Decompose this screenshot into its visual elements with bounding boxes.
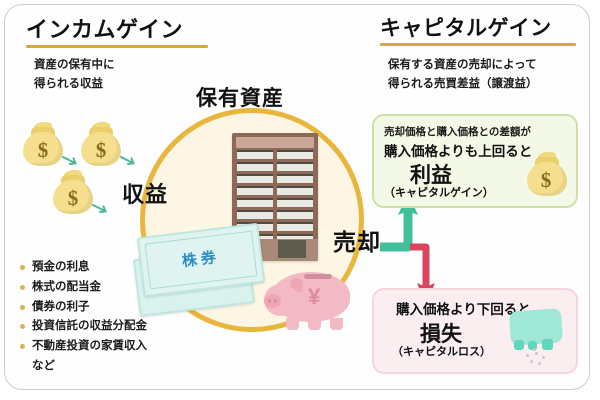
- capital-subtitle-line-1: 保有する資産の売却によって: [388, 56, 538, 75]
- building-roof: [236, 137, 314, 148]
- capital-gain-heading-text: キャピタルゲイン: [380, 12, 552, 42]
- profit-arrow-up-icon: [380, 209, 408, 247]
- flow-arrow-icon: [62, 155, 78, 167]
- piggy-bank-icon: ¥: [264, 268, 350, 326]
- money-bag-icon: $: [20, 122, 66, 168]
- building-door: [278, 240, 306, 258]
- list-item: 不動産投資の家賃収入: [18, 337, 147, 357]
- loss-arrow-down-icon: [410, 247, 426, 289]
- money-bag-symbol: $: [50, 186, 96, 211]
- flow-arrow-icon: [92, 203, 108, 215]
- income-flow-label: 収益: [122, 177, 168, 209]
- money-bag-symbol: $: [524, 168, 568, 193]
- money-bag-icon: $: [78, 122, 124, 168]
- list-item: 預金の利息: [18, 258, 147, 278]
- capital-subtitle-line-2: 得られる売買差益（譲渡益）: [388, 75, 538, 94]
- broken-piggy-bank-icon: [502, 308, 572, 366]
- gain-subtext: （キャピタルゲイン）: [384, 184, 494, 200]
- capital-loss-box: 購入価格より下回ると 損失 （キャピタルロス）: [372, 288, 578, 374]
- list-item: 株式の配当金: [18, 278, 147, 298]
- asset-label: 保有資産: [196, 82, 284, 112]
- income-gain-heading-text: インカムゲイン: [26, 12, 183, 44]
- income-source-list: 預金の利息 株式の配当金 債券の利子 投資信託の収益分配金 不動産投資の家賃収入…: [18, 258, 147, 377]
- money-bag-symbol: $: [78, 138, 124, 163]
- capital-heading-underline: [380, 43, 576, 46]
- gain-line-1: 売却価格と購入価格との差額が: [384, 124, 568, 139]
- capital-subtitle: 保有する資産の売却によって 得られる売買差益（譲渡益）: [388, 56, 538, 93]
- money-bag-icon: $: [524, 152, 568, 196]
- list-item: など: [18, 357, 147, 377]
- income-subtitle: 資産の保有中に 得られる収益: [34, 56, 115, 93]
- money-bag-icon: $: [50, 170, 96, 216]
- income-subtitle-line-1: 資産の保有中に: [34, 56, 115, 75]
- income-subtitle-line-2: 得られる収益: [34, 75, 115, 94]
- money-bag-symbol: $: [20, 138, 66, 163]
- infographic-root: インカムゲイン 資産の保有中に 得られる収益 キャピタルゲイン 保有する資産の売…: [0, 0, 600, 400]
- capital-gain-heading: キャピタルゲイン: [380, 12, 576, 46]
- income-heading-underline: [26, 45, 208, 48]
- sell-label: 売却: [333, 223, 381, 257]
- capital-gain-box: 売却価格と購入価格との差額が 購入価格よりも上回ると 利益 （キャピタルゲイン）…: [372, 114, 578, 208]
- building-windows-right: [277, 150, 313, 246]
- list-item: 投資信託の収益分配金: [18, 317, 147, 337]
- flow-arrow-icon: [120, 155, 136, 167]
- loss-subtext: （キャピタルロス）: [392, 343, 491, 359]
- list-item: 債券の利子: [18, 298, 147, 318]
- piggy-yen-symbol: ¥: [308, 284, 320, 310]
- income-gain-heading: インカムゲイン: [26, 12, 208, 48]
